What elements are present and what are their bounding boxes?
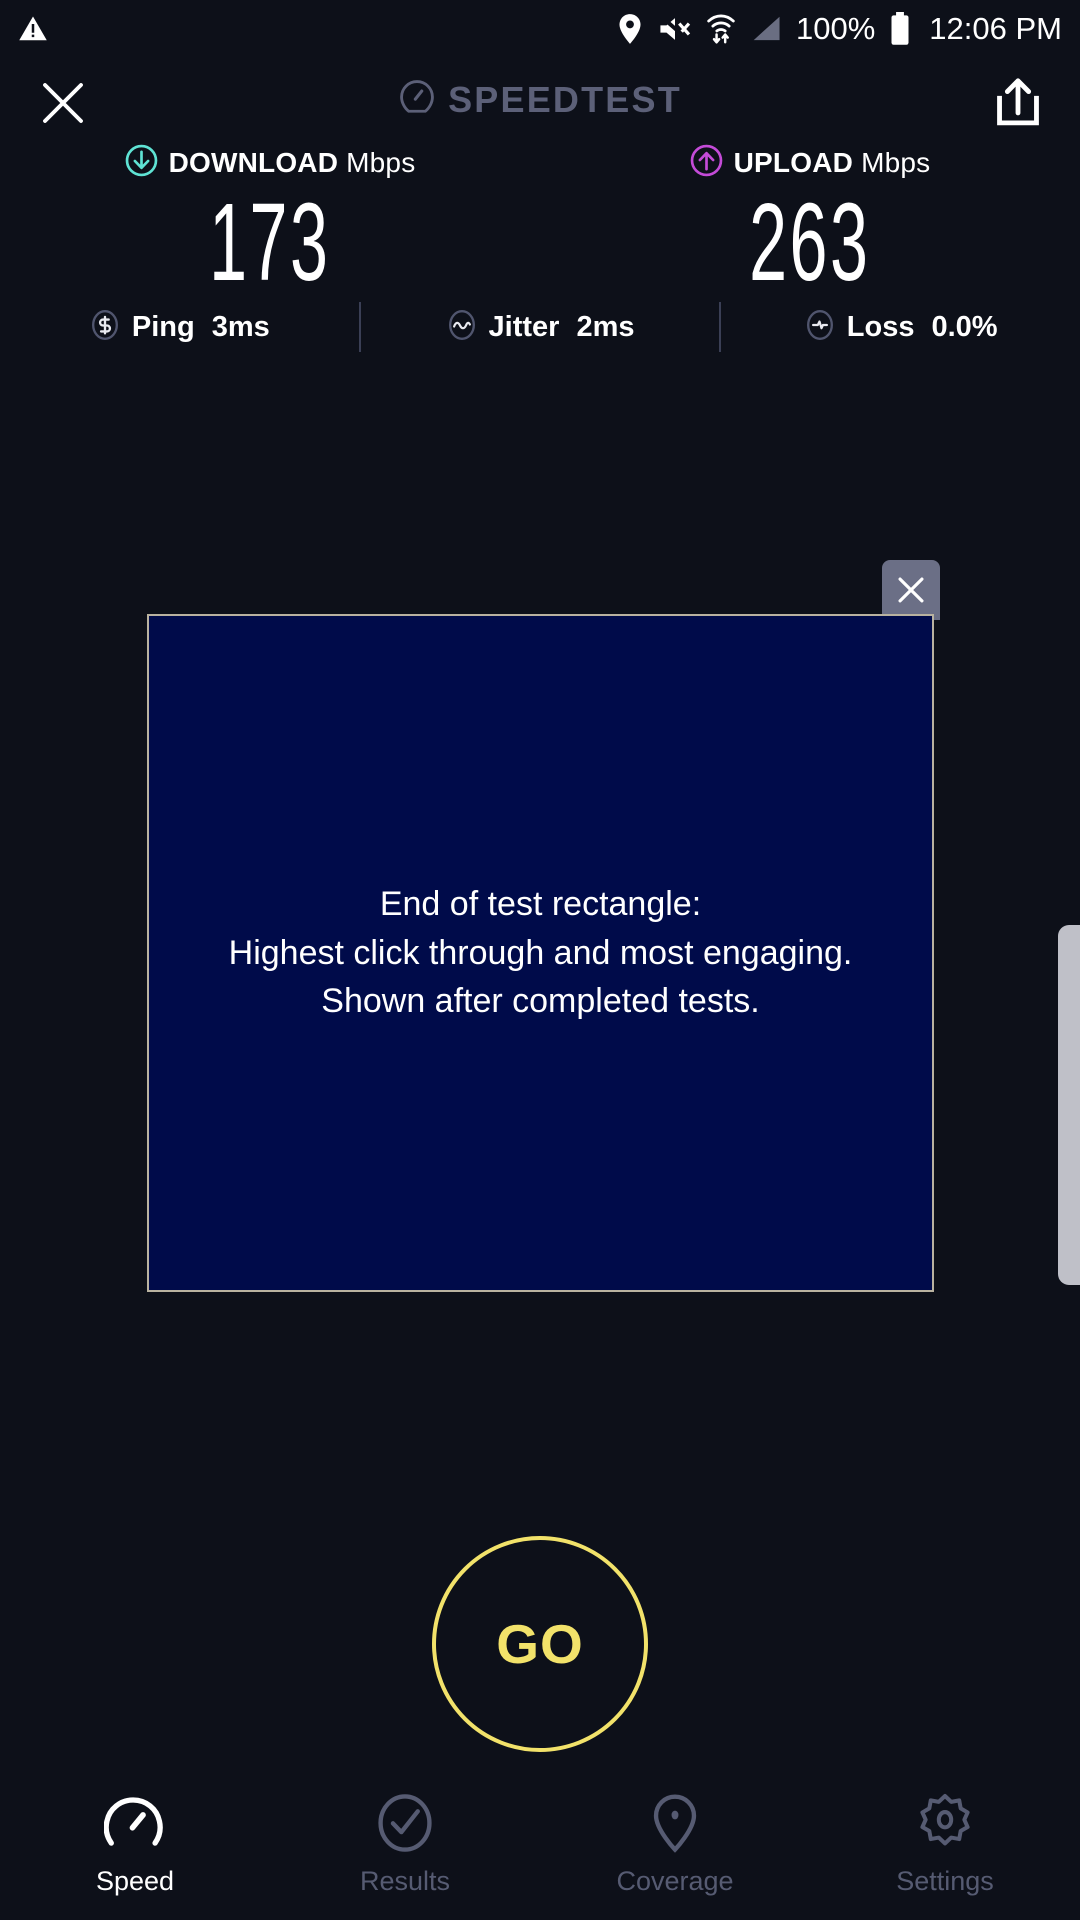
metric-ping: Ping 3ms [0,309,359,346]
network-metrics-row: Ping 3ms Jitter 2ms Loss 0.0% [0,302,1080,352]
map-pin-icon [644,1788,706,1858]
ping-value: 3ms [212,311,270,344]
nav-item-speed[interactable]: Speed [0,1778,270,1920]
nav-item-settings[interactable]: Settings [810,1778,1080,1920]
scrollbar-thumb[interactable] [1058,925,1080,1285]
gear-icon [914,1788,976,1858]
speedtest-app-screen: 100% 12:06 PM SPEEDTEST [0,0,1080,1920]
speedometer-icon [398,78,436,121]
check-circle-icon [374,1788,436,1858]
metric-loss: Loss 0.0% [721,309,1080,346]
upload-label: UPLOAD [734,147,853,178]
ping-label: Ping [132,311,195,344]
nav-label-settings: Settings [896,1866,994,1897]
jitter-label: Jitter [489,311,560,344]
download-result: DOWNLOADMbps 173 [0,144,540,298]
app-header: SPEEDTEST [0,58,1080,144]
brand-title: SPEEDTEST [448,79,682,121]
ad-rectangle[interactable]: End of test rectangle: Highest click thr… [147,614,934,1292]
upload-arrow-circle-icon [690,144,723,182]
status-bar-left [18,14,48,44]
status-bar: 100% 12:06 PM [0,0,1080,58]
go-button-label: GO [496,1612,584,1676]
warning-triangle-icon [18,14,48,44]
wifi-transfer-icon [706,13,736,45]
jitter-value: 2ms [576,311,634,344]
ping-icon [89,309,121,346]
metric-jitter: Jitter 2ms [361,309,720,346]
loss-value: 0.0% [931,311,997,344]
volume-muted-icon [658,14,692,44]
upload-unit: Mbps [861,147,930,178]
download-label: DOWNLOAD [169,147,339,178]
speedometer-gauge-icon [104,1788,166,1858]
download-value: 173 [209,188,330,298]
nav-item-results[interactable]: Results [270,1778,540,1920]
go-button[interactable]: GO [432,1536,648,1752]
location-pin-icon [616,13,644,45]
brand-logo: SPEEDTEST [0,78,1080,121]
battery-percent-label: 100% [796,11,875,47]
ad-close-x-icon[interactable] [882,560,940,620]
nav-label-speed: Speed [96,1866,174,1897]
jitter-icon [446,309,478,346]
download-arrow-circle-icon [125,144,158,182]
nav-item-coverage[interactable]: Coverage [540,1778,810,1920]
ad-text: End of test rectangle: Highest click thr… [229,880,853,1026]
upload-value: 263 [749,188,870,298]
share-upload-icon[interactable] [990,74,1046,132]
nav-label-coverage: Coverage [616,1866,733,1897]
cellular-signal-icon [750,14,782,44]
status-bar-clock: 12:06 PM [929,11,1062,47]
nav-label-results: Results [360,1866,450,1897]
battery-full-icon [889,12,911,46]
upload-result: UPLOADMbps 263 [540,144,1080,298]
loss-label: Loss [847,311,915,344]
speed-results: DOWNLOADMbps 173 UPLOADMbps [0,144,1080,298]
status-bar-right: 100% 12:06 PM [616,11,1062,47]
download-unit: Mbps [346,147,415,178]
bottom-navigation: Speed Results Coverage [0,1778,1080,1920]
loss-icon [804,309,836,346]
